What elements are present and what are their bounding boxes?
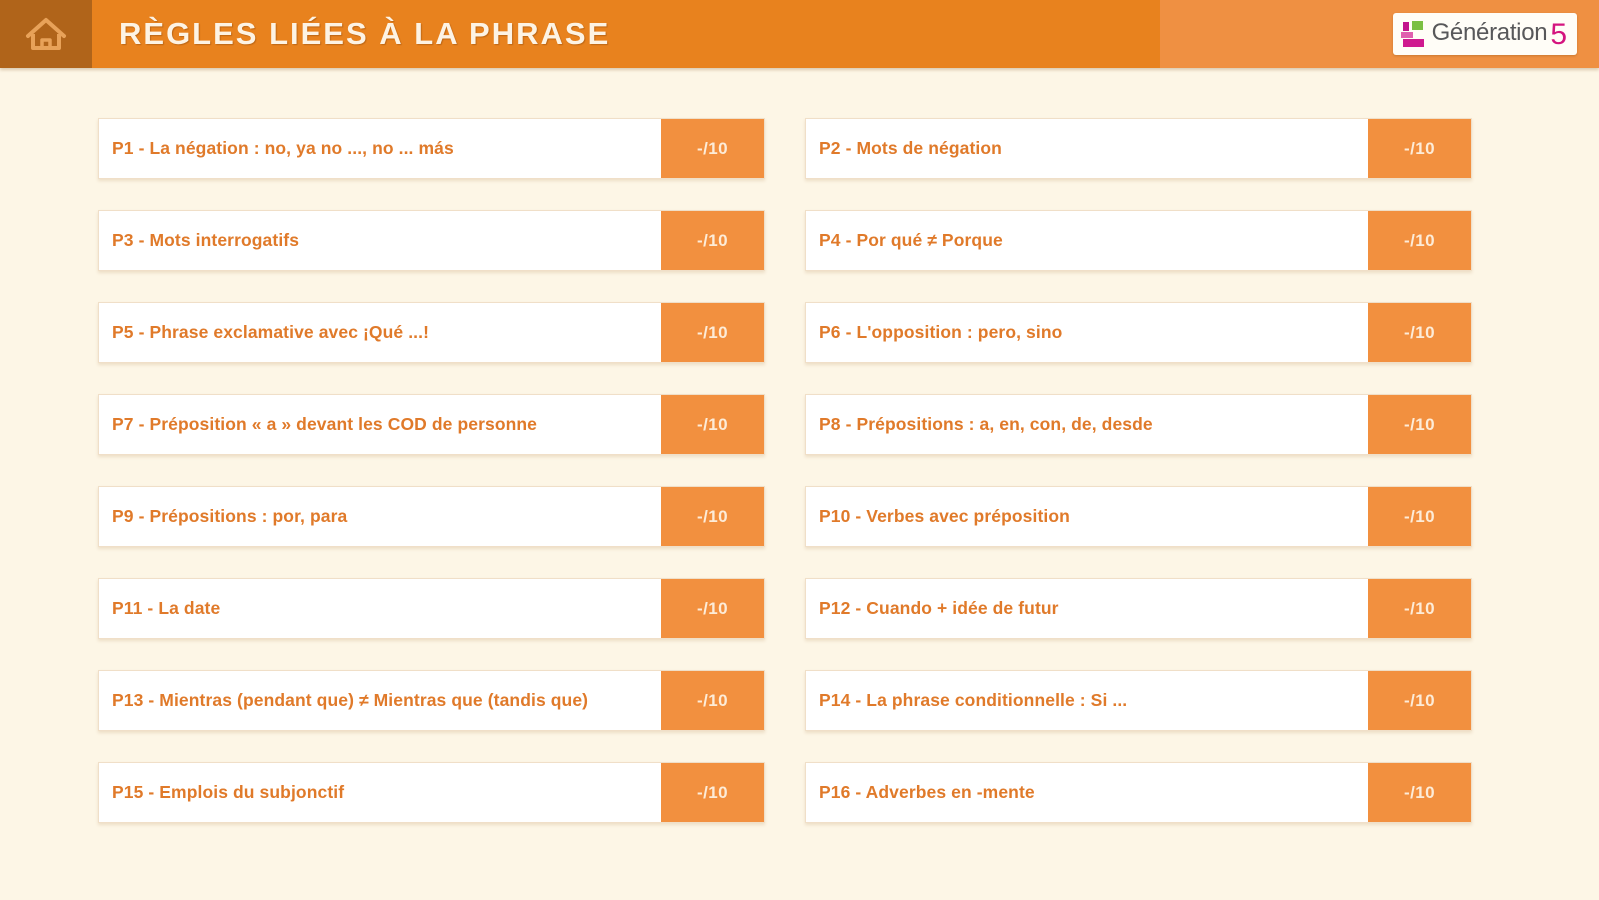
rule-card[interactable]: P3 - Mots interrogatifs-/10 xyxy=(98,210,765,271)
rule-score-badge[interactable]: -/10 xyxy=(661,211,764,270)
home-icon xyxy=(24,14,68,54)
page-title: Règles liées à la phrase xyxy=(119,16,610,52)
rule-card-label: P12 - Cuando + idée de futur xyxy=(806,579,1368,638)
rule-score-badge[interactable]: -/10 xyxy=(661,579,764,638)
home-button[interactable] xyxy=(0,0,92,68)
rule-card[interactable]: P7 - Préposition « a » devant les COD de… xyxy=(98,394,765,455)
rule-card-label: P7 - Préposition « a » devant les COD de… xyxy=(99,395,661,454)
rule-score-badge[interactable]: -/10 xyxy=(1368,395,1471,454)
rule-card-label: P1 - La négation : no, ya no ..., no ...… xyxy=(99,119,661,178)
rule-card[interactable]: P8 - Prépositions : a, en, con, de, desd… xyxy=(805,394,1472,455)
rule-score-badge[interactable]: -/10 xyxy=(1368,487,1471,546)
rule-card[interactable]: P2 - Mots de négation-/10 xyxy=(805,118,1472,179)
rule-score-badge[interactable]: -/10 xyxy=(1368,211,1471,270)
rule-card[interactable]: P14 - La phrase conditionnelle : Si ...-… xyxy=(805,670,1472,731)
rule-score-badge[interactable]: -/10 xyxy=(1368,303,1471,362)
rule-card-label: P11 - La date xyxy=(99,579,661,638)
title-bar: Règles liées à la phrase xyxy=(92,0,1160,68)
rule-card-label: P15 - Emplois du subjonctif xyxy=(99,763,661,822)
rule-card-label: P4 - Por qué ≠ Porque xyxy=(806,211,1368,270)
logo-text: Génération xyxy=(1432,21,1548,45)
logo-number: 5 xyxy=(1550,20,1567,50)
rule-card-label: P14 - La phrase conditionnelle : Si ... xyxy=(806,671,1368,730)
rule-card[interactable]: P10 - Verbes avec préposition-/10 xyxy=(805,486,1472,547)
rule-score-badge[interactable]: -/10 xyxy=(661,395,764,454)
rule-score-badge[interactable]: -/10 xyxy=(661,119,764,178)
rule-card[interactable]: P6 - L'opposition : pero, sino-/10 xyxy=(805,302,1472,363)
rule-score-badge[interactable]: -/10 xyxy=(661,763,764,822)
header-right-area: Génération 5 xyxy=(1160,0,1599,68)
rule-card[interactable]: P15 - Emplois du subjonctif-/10 xyxy=(98,762,765,823)
rule-card[interactable]: P4 - Por qué ≠ Porque-/10 xyxy=(805,210,1472,271)
rule-card-label: P10 - Verbes avec préposition xyxy=(806,487,1368,546)
rule-score-badge[interactable]: -/10 xyxy=(1368,763,1471,822)
app-header: Règles liées à la phrase Génération 5 xyxy=(0,0,1599,68)
rule-card-label: P9 - Prépositions : por, para xyxy=(99,487,661,546)
rule-score-badge[interactable]: -/10 xyxy=(1368,671,1471,730)
generation-5-logo[interactable]: Génération 5 xyxy=(1393,13,1577,55)
content-area: P1 - La négation : no, ya no ..., no ...… xyxy=(0,68,1599,900)
rule-card[interactable]: P5 - Phrase exclamative avec ¡Qué ...!-/… xyxy=(98,302,765,363)
rule-card[interactable]: P12 - Cuando + idée de futur-/10 xyxy=(805,578,1472,639)
rule-card-label: P2 - Mots de négation xyxy=(806,119,1368,178)
rule-card[interactable]: P13 - Mientras (pendant que) ≠ Mientras … xyxy=(98,670,765,731)
rule-score-badge[interactable]: -/10 xyxy=(661,487,764,546)
rule-card[interactable]: P1 - La négation : no, ya no ..., no ...… xyxy=(98,118,765,179)
rule-card[interactable]: P9 - Prépositions : por, para-/10 xyxy=(98,486,765,547)
rule-card[interactable]: P16 - Adverbes en -mente-/10 xyxy=(805,762,1472,823)
rule-card-label: P6 - L'opposition : pero, sino xyxy=(806,303,1368,362)
rule-score-badge[interactable]: -/10 xyxy=(1368,119,1471,178)
rule-card-label: P16 - Adverbes en -mente xyxy=(806,763,1368,822)
rule-card-label: P3 - Mots interrogatifs xyxy=(99,211,661,270)
rule-score-badge[interactable]: -/10 xyxy=(1368,579,1471,638)
rules-grid: P1 - La négation : no, ya no ..., no ...… xyxy=(98,118,1472,823)
rule-card-label: P13 - Mientras (pendant que) ≠ Mientras … xyxy=(99,671,661,730)
rule-card-label: P5 - Phrase exclamative avec ¡Qué ...! xyxy=(99,303,661,362)
logo-blocks-icon xyxy=(1401,21,1427,47)
rule-card-label: P8 - Prépositions : a, en, con, de, desd… xyxy=(806,395,1368,454)
rule-card[interactable]: P11 - La date-/10 xyxy=(98,578,765,639)
rule-score-badge[interactable]: -/10 xyxy=(661,303,764,362)
rule-score-badge[interactable]: -/10 xyxy=(661,671,764,730)
